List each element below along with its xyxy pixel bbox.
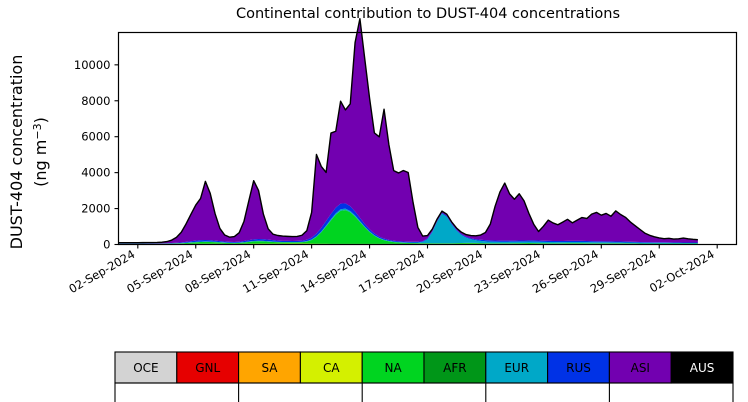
legend-second-row-partial: [115, 383, 733, 402]
chart-title: Continental contribution to DUST-404 con…: [236, 6, 620, 22]
legend-item-rus[interactable]: RUS: [548, 352, 610, 383]
legend-item-gnl[interactable]: GNL: [177, 352, 239, 383]
legend-item-sa[interactable]: SA: [239, 352, 301, 383]
legend-label-afr: AFR: [443, 361, 466, 375]
legend-item-afr[interactable]: AFR: [424, 352, 486, 383]
legend-label-na: NA: [385, 361, 403, 375]
legend-label-aus: AUS: [690, 361, 715, 375]
dust-404-stacked-area-chart: Continental contribution to DUST-404 con…: [0, 0, 748, 402]
legend-item-aus[interactable]: AUS: [671, 352, 733, 383]
y-axis-label: DUST-404 concentration (ng m−3): [7, 55, 50, 250]
legend-second-row-frame: [115, 383, 733, 402]
legend-label-sa: SA: [261, 361, 278, 375]
y-axis-ticks: 0200040006000800010000: [74, 58, 119, 252]
y-axis-unit-open: (ng m: [31, 140, 50, 187]
legend-item-ca[interactable]: CA: [300, 352, 362, 383]
legend-item-asi[interactable]: ASI: [609, 352, 671, 383]
y-axis-label-line2: (ng m−3): [31, 117, 50, 187]
legend-label-oce: OCE: [133, 361, 158, 375]
legend-item-na[interactable]: NA: [362, 352, 424, 383]
legend-label-ca: CA: [323, 361, 340, 375]
y-tick-label: 2000: [81, 202, 110, 216]
legend[interactable]: OCEGNLSACANAAFREURRUSASIAUS: [115, 352, 733, 402]
y-axis-unit-close: ): [31, 117, 50, 123]
x-tick-label: 02-Oct-2024: [647, 247, 717, 295]
legend-label-rus: RUS: [566, 361, 591, 375]
plot-area: [119, 19, 698, 245]
area-series-asi: [119, 19, 698, 244]
legend-label-gnl: GNL: [195, 361, 220, 375]
y-tick-label: 6000: [81, 130, 110, 144]
x-axis-ticks: 02-Sep-202405-Sep-202408-Sep-202411-Sep-…: [66, 245, 717, 297]
y-axis-label-line1: DUST-404 concentration: [7, 55, 26, 250]
legend-label-eur: EUR: [504, 361, 529, 375]
y-tick-label: 0: [103, 238, 110, 252]
figure-canvas: Continental contribution to DUST-404 con…: [0, 0, 748, 402]
y-tick-label: 4000: [81, 166, 110, 180]
legend-item-oce[interactable]: OCE: [115, 352, 177, 383]
x-tick-label: 29-Sep-2024: [588, 247, 659, 296]
legend-item-eur[interactable]: EUR: [486, 352, 548, 383]
y-axis-unit-exponent: −3: [31, 123, 44, 139]
y-tick-label: 10000: [74, 58, 111, 72]
y-tick-label: 8000: [81, 94, 110, 108]
legend-label-asi: ASI: [631, 361, 650, 375]
